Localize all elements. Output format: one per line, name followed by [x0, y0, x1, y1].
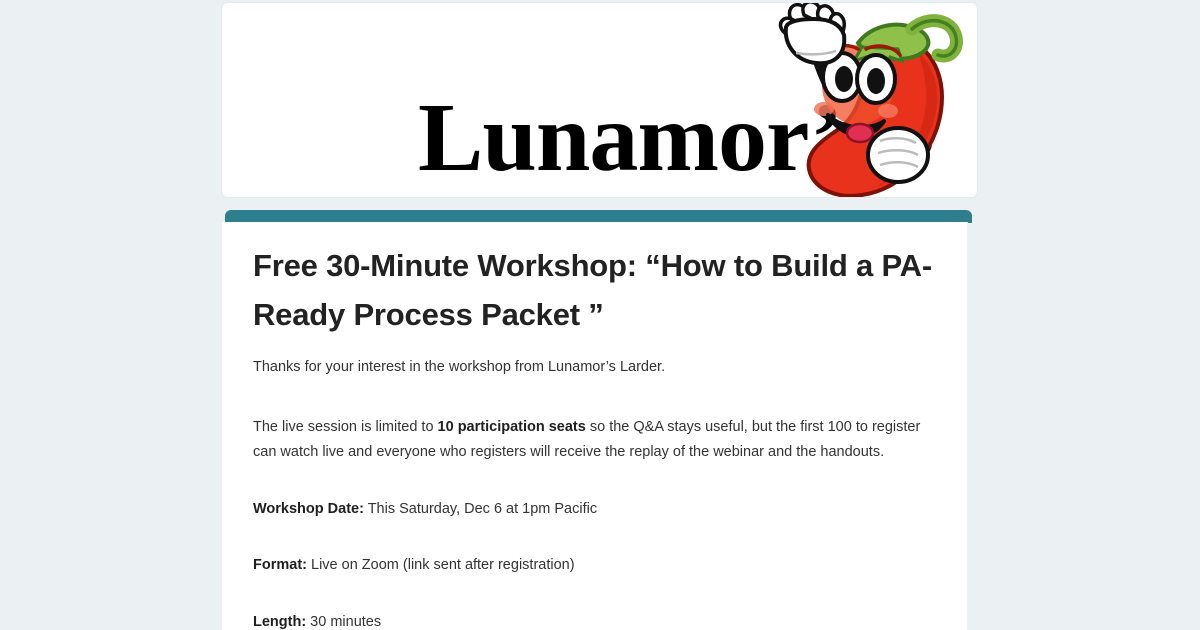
seats-paragraph: The live session is limited to 10 partic… — [253, 415, 937, 465]
waving-chili-pepper-mascot-icon — [766, 3, 971, 198]
detail-length-value: 30 minutes — [306, 614, 381, 630]
page-title: Free 30-Minute Workshop: “How to Build a… — [253, 242, 937, 340]
detail-length-label: Length: — [253, 614, 306, 630]
detail-format: Format: Live on Zoom (link sent after re… — [253, 554, 937, 577]
seats-paragraph-part-1: The live session is limited to — [253, 419, 438, 435]
content-card: Free 30-Minute Workshop: “How to Build a… — [221, 222, 968, 630]
header-banner: Lunamor’s Larder — [221, 2, 978, 198]
detail-workshop-date-value: This Saturday, Dec 6 at 1pm Pacific — [364, 501, 597, 517]
seats-count-emphasis: 10 participation seats — [438, 419, 586, 435]
detail-format-label: Format: — [253, 557, 307, 573]
detail-length: Length: 30 minutes — [253, 611, 937, 630]
detail-workshop-date-label: Workshop Date: — [253, 501, 364, 517]
detail-format-value: Live on Zoom (link sent after registrati… — [307, 557, 575, 573]
intro-paragraph: Thanks for your interest in the workshop… — [253, 356, 937, 378]
banner-inner: Lunamor’s Larder — [222, 3, 977, 197]
landing-page: Lunamor’s Larder — [0, 0, 1200, 630]
card-content: Free 30-Minute Workshop: “How to Build a… — [222, 222, 967, 630]
detail-workshop-date: Workshop Date: This Saturday, Dec 6 at 1… — [253, 498, 937, 521]
